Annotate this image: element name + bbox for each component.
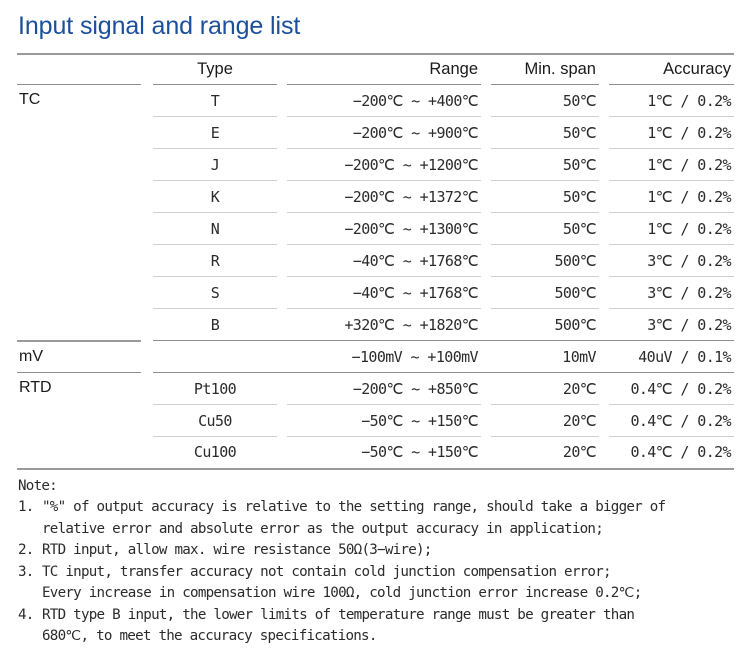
cell-gap	[141, 277, 153, 309]
cell-type: S	[153, 277, 277, 309]
cell-gap	[481, 181, 491, 213]
note-text: RTD input, allow max. wire resistance 50…	[42, 540, 734, 562]
group-label-mv: mV	[17, 341, 141, 373]
note-line: relative error and absolute error as the…	[42, 519, 734, 541]
cell-gap	[599, 213, 609, 245]
table-row: TC T −200℃ ~ +400℃ 50℃ 1℃ / 0.2%	[17, 85, 734, 117]
note-number: 2.	[18, 540, 42, 562]
cell-gap	[141, 181, 153, 213]
cell-min-span: 20℃	[491, 373, 599, 405]
cell-gap	[277, 213, 287, 245]
cell-min-span: 500℃	[491, 277, 599, 309]
cell-type: E	[153, 117, 277, 149]
cell-range: −40℃ ~ +1768℃	[287, 277, 481, 309]
cell-min-span: 50℃	[491, 213, 599, 245]
note-line: TC input, transfer accuracy not contain …	[42, 562, 734, 584]
cell-gap	[599, 117, 609, 149]
cell-gap	[141, 373, 153, 405]
cell-range: −200℃ ~ +850℃	[287, 373, 481, 405]
cell-min-span: 10mV	[491, 341, 599, 373]
header-type: Type	[153, 54, 277, 85]
cell-gap	[599, 85, 609, 117]
cell-range: −40℃ ~ +1768℃	[287, 245, 481, 277]
cell-gap	[599, 309, 609, 341]
cell-type: J	[153, 149, 277, 181]
cell-range: −200℃ ~ +1200℃	[287, 149, 481, 181]
cell-type: R	[153, 245, 277, 277]
group-label-tc: TC	[17, 85, 141, 341]
cell-gap	[481, 117, 491, 149]
cell-gap	[599, 341, 609, 373]
table-row: mV −100mV ~ +100mV 10mV 40uV / 0.1%	[17, 341, 734, 373]
cell-gap	[481, 149, 491, 181]
cell-min-span: 50℃	[491, 181, 599, 213]
cell-gap	[481, 213, 491, 245]
cell-accuracy: 3℃ / 0.2%	[609, 245, 734, 277]
cell-gap	[277, 181, 287, 213]
table-bottom-rule	[17, 469, 734, 470]
cell-gap	[141, 245, 153, 277]
table-bottom-rule-row	[17, 469, 734, 470]
cell-type: T	[153, 85, 277, 117]
note-line: Every increase in compensation wire 100Ω…	[42, 583, 734, 605]
note-text: "%" of output accuracy is relative to th…	[42, 497, 734, 540]
cell-gap	[481, 309, 491, 341]
cell-min-span: 500℃	[491, 245, 599, 277]
note-item-4: 4. RTD type B input, the lower limits of…	[18, 605, 734, 648]
cell-gap	[277, 437, 287, 469]
cell-type: Pt100	[153, 373, 277, 405]
cell-gap	[599, 373, 609, 405]
cell-range: −200℃ ~ +1372℃	[287, 181, 481, 213]
cell-gap	[277, 373, 287, 405]
cell-gap	[481, 277, 491, 309]
cell-gap	[481, 245, 491, 277]
cell-gap	[481, 341, 491, 373]
cell-gap	[277, 405, 287, 437]
cell-accuracy: 0.4℃ / 0.2%	[609, 437, 734, 469]
cell-gap	[481, 437, 491, 469]
cell-range: +320℃ ~ +1820℃	[287, 309, 481, 341]
cell-gap	[599, 437, 609, 469]
note-number: 3.	[18, 562, 42, 584]
header-gap-3	[481, 54, 491, 85]
cell-accuracy: 1℃ / 0.2%	[609, 117, 734, 149]
cell-gap	[141, 341, 153, 373]
cell-type: N	[153, 213, 277, 245]
note-item-3: 3. TC input, transfer accuracy not conta…	[18, 562, 734, 605]
cell-accuracy: 3℃ / 0.2%	[609, 277, 734, 309]
table-row: RTD Pt100 −200℃ ~ +850℃ 20℃ 0.4℃ / 0.2%	[17, 373, 734, 405]
cell-type: Cu100	[153, 437, 277, 469]
note-number: 1.	[18, 497, 42, 519]
group-label-rtd: RTD	[17, 373, 141, 469]
cell-gap	[141, 405, 153, 437]
cell-min-span: 20℃	[491, 437, 599, 469]
cell-accuracy: 40uV / 0.1%	[609, 341, 734, 373]
note-line: "%" of output accuracy is relative to th…	[42, 497, 734, 519]
note-line: 680℃, to meet the accuracy specification…	[42, 626, 734, 648]
cell-accuracy: 3℃ / 0.2%	[609, 309, 734, 341]
cell-gap	[599, 405, 609, 437]
note-number: 4.	[18, 605, 42, 627]
cell-range: −50℃ ~ +150℃	[287, 437, 481, 469]
page-title: Input signal and range list	[18, 0, 734, 39]
header-accuracy: Accuracy	[609, 54, 734, 85]
cell-accuracy: 0.4℃ / 0.2%	[609, 405, 734, 437]
cell-range: −100mV ~ +100mV	[287, 341, 481, 373]
note-text: RTD type B input, the lower limits of te…	[42, 605, 734, 648]
cell-accuracy: 1℃ / 0.2%	[609, 149, 734, 181]
cell-gap	[599, 181, 609, 213]
cell-range: −200℃ ~ +400℃	[287, 85, 481, 117]
note-item-2: 2. RTD input, allow max. wire resistance…	[18, 540, 734, 562]
cell-type	[153, 341, 277, 373]
header-category	[17, 54, 141, 85]
cell-range: −200℃ ~ +1300℃	[287, 213, 481, 245]
cell-gap	[481, 373, 491, 405]
note-text: TC input, transfer accuracy not contain …	[42, 562, 734, 605]
table-body: TC T −200℃ ~ +400℃ 50℃ 1℃ / 0.2% E −200℃…	[17, 85, 734, 470]
cell-gap	[599, 149, 609, 181]
cell-gap	[141, 309, 153, 341]
cell-min-span: 500℃	[491, 309, 599, 341]
header-range: Range	[287, 54, 481, 85]
cell-gap	[277, 85, 287, 117]
cell-range: −200℃ ~ +900℃	[287, 117, 481, 149]
cell-accuracy: 1℃ / 0.2%	[609, 85, 734, 117]
cell-gap	[481, 405, 491, 437]
cell-min-span: 50℃	[491, 149, 599, 181]
cell-gap	[141, 213, 153, 245]
cell-min-span: 50℃	[491, 117, 599, 149]
notes-heading: Note:	[18, 474, 734, 498]
cell-gap	[277, 277, 287, 309]
cell-type: Cu50	[153, 405, 277, 437]
note-line: RTD type B input, the lower limits of te…	[42, 605, 734, 627]
cell-gap	[599, 245, 609, 277]
table-header: Type Range Min. span Accuracy	[17, 54, 734, 85]
cell-gap	[141, 149, 153, 181]
cell-gap	[141, 437, 153, 469]
notes-section: Note: 1. "%" of output accuracy is relat…	[17, 474, 734, 648]
cell-gap	[141, 117, 153, 149]
note-item-1: 1. "%" of output accuracy is relative to…	[18, 497, 734, 540]
cell-accuracy: 1℃ / 0.2%	[609, 181, 734, 213]
cell-gap	[599, 277, 609, 309]
cell-gap	[277, 245, 287, 277]
note-line: RTD input, allow max. wire resistance 50…	[42, 540, 734, 562]
cell-gap	[481, 85, 491, 117]
cell-accuracy: 1℃ / 0.2%	[609, 213, 734, 245]
cell-gap	[277, 341, 287, 373]
cell-min-span: 50℃	[491, 85, 599, 117]
cell-gap	[277, 149, 287, 181]
header-min-span: Min. span	[491, 54, 599, 85]
cell-type: B	[153, 309, 277, 341]
cell-gap	[141, 85, 153, 117]
input-signal-range-table: Type Range Min. span Accuracy TC T −200℃…	[17, 53, 734, 470]
cell-min-span: 20℃	[491, 405, 599, 437]
header-gap-1	[141, 54, 153, 85]
cell-gap	[277, 117, 287, 149]
table-header-row: Type Range Min. span Accuracy	[17, 54, 734, 85]
cell-accuracy: 0.4℃ / 0.2%	[609, 373, 734, 405]
cell-gap	[277, 309, 287, 341]
spec-sheet-page: Input signal and range list Type Range M…	[0, 0, 751, 647]
header-gap-2	[277, 54, 287, 85]
cell-range: −50℃ ~ +150℃	[287, 405, 481, 437]
cell-type: K	[153, 181, 277, 213]
header-gap-4	[599, 54, 609, 85]
